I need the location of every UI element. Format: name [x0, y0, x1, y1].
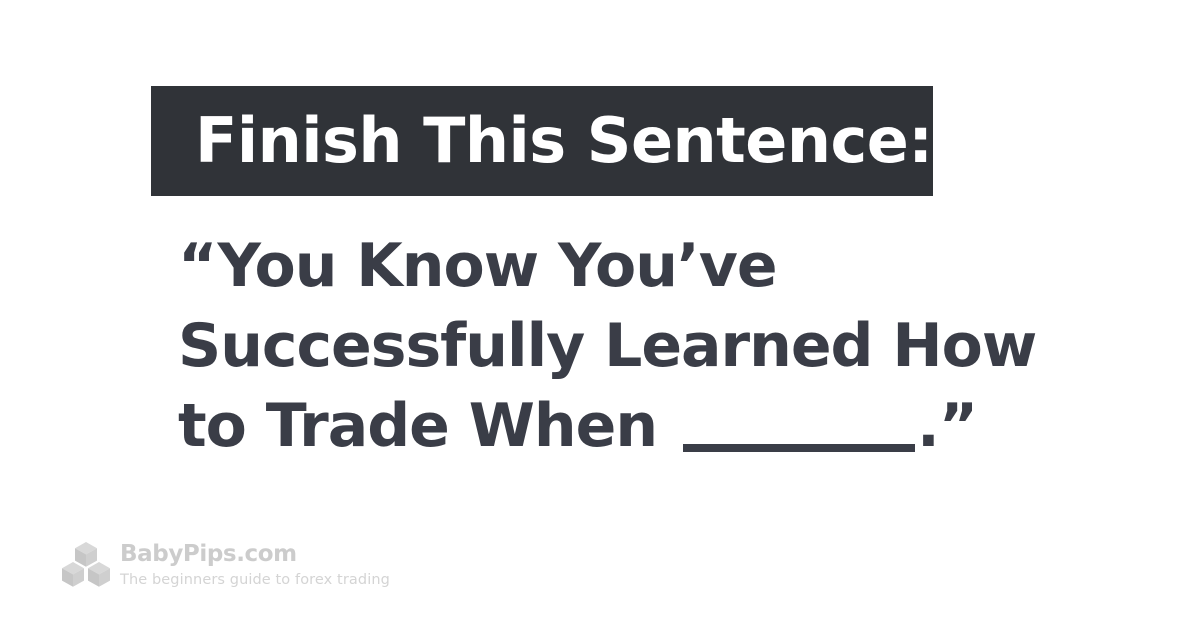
quote-line-3: to Trade When .” — [178, 386, 1078, 466]
promo-card: Finish This Sentence: “You Know You’ve S… — [0, 0, 1200, 628]
three-cubes-logo-icon — [58, 536, 114, 592]
quote-line-3-suffix: .” — [917, 391, 977, 461]
fill-in-blank-rule — [683, 444, 915, 452]
quote-line-1: “You Know You’ve — [178, 226, 1078, 306]
headline-banner: Finish This Sentence: — [151, 86, 933, 196]
brand-text: BabyPips.com The beginners guide to fore… — [120, 538, 390, 590]
quote-line-2: Successfully Learned How — [178, 306, 1078, 386]
brand-tagline: The beginners guide to forex trading — [120, 570, 390, 590]
quote-block: “You Know You’ve Successfully Learned Ho… — [178, 226, 1078, 466]
brand-footer: BabyPips.com The beginners guide to fore… — [58, 536, 390, 592]
headline-text: Finish This Sentence: — [151, 110, 933, 172]
brand-name: BabyPips.com — [120, 540, 390, 568]
quote-line-3-text: to Trade When — [178, 391, 657, 461]
